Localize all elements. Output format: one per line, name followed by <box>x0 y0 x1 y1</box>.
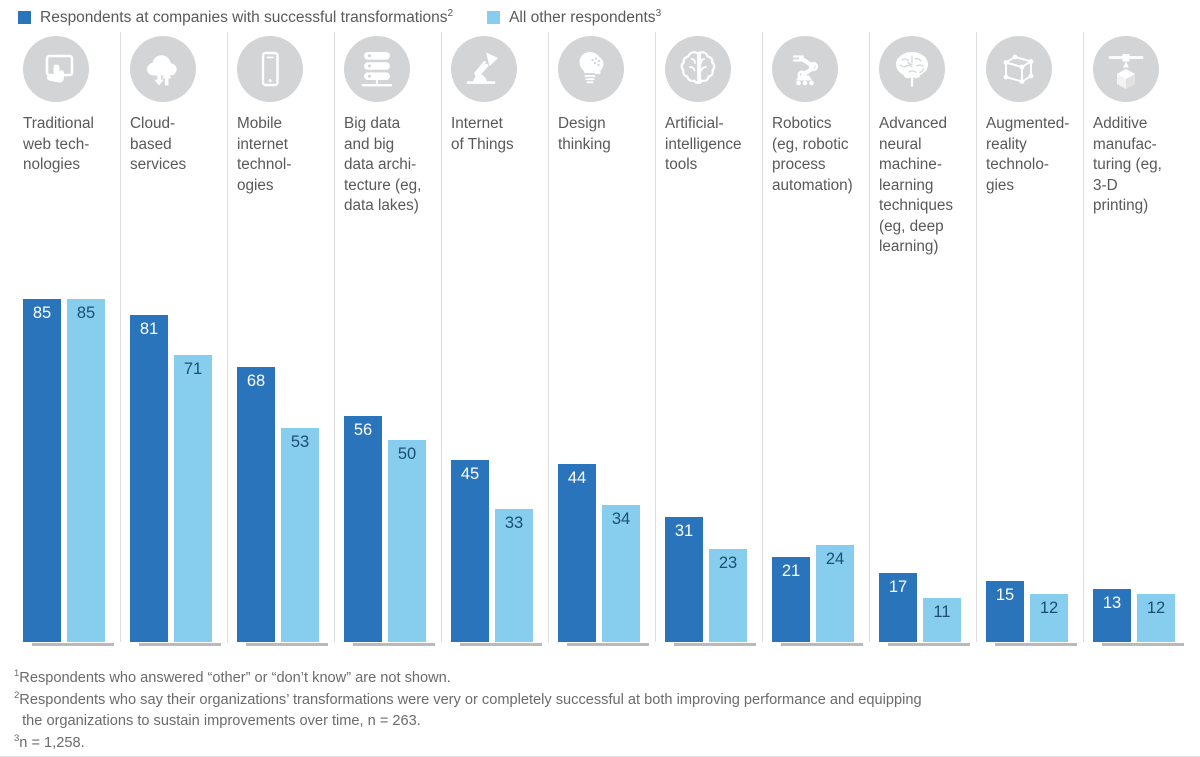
bar-group: 5650 <box>344 217 434 643</box>
bars-region: 8171 <box>130 176 220 643</box>
bar-group: 8171 <box>130 176 220 643</box>
bar-rect[interactable]: 12 <box>1030 594 1068 642</box>
category-label: Robotics (eg, robotic process automation… <box>772 114 862 196</box>
bar-successful[interactable]: 13 <box>1093 589 1131 642</box>
bar-group: 6853 <box>237 196 327 642</box>
bar-value-label: 85 <box>67 304 105 322</box>
bar-value-label: 85 <box>23 304 61 322</box>
bar-group: 1312 <box>1093 217 1183 643</box>
bar-successful[interactable]: 31 <box>665 517 703 642</box>
bar-rect[interactable]: 53 <box>281 428 319 642</box>
bar-other[interactable]: 11 <box>923 598 961 642</box>
category-label: Internet of Things <box>451 114 541 155</box>
robot-arm-icon <box>772 36 838 102</box>
bar-group: 1711 <box>879 258 969 643</box>
footnote-3: the organizations to sustain improvement… <box>14 711 922 733</box>
panel-baseline <box>460 643 542 646</box>
chart-category-panel: Additive manufac- turing (eg, 3-D printi… <box>1083 32 1190 642</box>
chart-legend: Respondents at companies with successful… <box>0 0 1200 26</box>
bar-other[interactable]: 34 <box>602 505 640 642</box>
lightbulb-head-icon <box>558 36 624 102</box>
bar-rect[interactable]: 71 <box>174 355 212 642</box>
legend-sup-0: 2 <box>448 8 454 19</box>
legend-item-1: All other respondents3 <box>487 8 661 27</box>
bar-group: 8585 <box>23 176 113 643</box>
chart-category-panel: Cloud- based services8171 <box>120 32 227 642</box>
bar-other[interactable]: 53 <box>281 428 319 642</box>
panel-inner: Traditional web tech- nologies8585 <box>14 32 120 642</box>
panel-baseline <box>246 643 328 646</box>
bars-region: 3123 <box>665 176 755 643</box>
category-label: Cloud- based services <box>130 114 220 176</box>
bar-rect[interactable]: 23 <box>709 549 747 642</box>
bar-successful[interactable]: 85 <box>23 299 61 642</box>
neural-brain-icon <box>879 36 945 102</box>
panel-baseline <box>995 643 1077 646</box>
bar-rect[interactable]: 15 <box>986 581 1024 642</box>
bar-rect[interactable]: 33 <box>495 509 533 642</box>
bar-value-label: 50 <box>388 445 426 463</box>
bar-other[interactable]: 71 <box>174 355 212 642</box>
footnote-text: Respondents who say their organizations’… <box>19 692 921 708</box>
legend-swatch-light-icon <box>487 11 500 24</box>
bar-value-label: 68 <box>237 372 275 390</box>
bar-value-label: 13 <box>1093 594 1131 612</box>
chart-footnotes: 1Respondents who answered “other” or “do… <box>14 668 922 754</box>
legend-sup-1: 3 <box>656 8 662 19</box>
bar-value-label: 44 <box>558 469 596 487</box>
panel-inner: Mobile internet technol- ogies6853 <box>228 32 334 642</box>
category-label: Advanced neural machine- learning techni… <box>879 114 969 258</box>
category-label: Mobile internet technol- ogies <box>237 114 327 196</box>
bar-other[interactable]: 24 <box>816 545 854 642</box>
web-browser-touch-icon <box>23 36 89 102</box>
bar-rect[interactable]: 21 <box>772 557 810 642</box>
bar-rect[interactable]: 81 <box>130 315 168 642</box>
category-label: Big data and big data archi- tecture (eg… <box>344 114 434 217</box>
wireframe-cube-icon <box>986 36 1052 102</box>
bar-value-label: 24 <box>816 550 854 568</box>
bar-successful[interactable]: 15 <box>986 581 1024 642</box>
bars-region: 8585 <box>23 176 113 643</box>
panel-inner: Design thinking4434 <box>549 32 655 642</box>
bar-group: 1512 <box>986 196 1076 642</box>
bar-value-label: 45 <box>451 465 489 483</box>
bar-value-label: 71 <box>174 360 212 378</box>
bar-rect[interactable]: 50 <box>388 440 426 642</box>
bar-other[interactable]: 85 <box>67 299 105 642</box>
category-label: Additive manufac- turing (eg, 3-D printi… <box>1093 114 1183 217</box>
bar-value-label: 31 <box>665 522 703 540</box>
bar-value-label: 12 <box>1030 599 1068 617</box>
bars-region: 4533 <box>451 155 541 642</box>
footnote-text: Respondents who answered “other” or “don… <box>19 670 451 686</box>
panel-inner: Cloud- based services8171 <box>121 32 227 642</box>
panel-baseline <box>567 643 649 646</box>
bar-rect[interactable]: 85 <box>67 299 105 642</box>
chart-category-panel: Traditional web tech- nologies8585 <box>14 32 120 642</box>
bar-value-label: 11 <box>923 603 961 621</box>
panel-baseline <box>1102 643 1184 646</box>
bar-other[interactable]: 50 <box>388 440 426 642</box>
bar-value-label: 15 <box>986 586 1024 604</box>
panel-inner: Internet of Things4533 <box>442 32 548 642</box>
bar-group: 2124 <box>772 196 862 642</box>
bars-region: 5650 <box>344 217 434 643</box>
bar-successful[interactable]: 45 <box>451 460 489 642</box>
mobile-phone-icon <box>237 36 303 102</box>
footnote-2: 2Respondents who say their organizations… <box>14 690 922 712</box>
bar-rect[interactable]: 13 <box>1093 589 1131 642</box>
bar-rect[interactable]: 85 <box>23 299 61 642</box>
panel-baseline <box>139 643 221 646</box>
bar-group: 3123 <box>665 176 755 643</box>
bar-rect[interactable]: 34 <box>602 505 640 642</box>
bar-value-label: 34 <box>602 510 640 528</box>
bar-other[interactable]: 23 <box>709 549 747 642</box>
bar-value-label: 53 <box>281 433 319 451</box>
bar-successful[interactable]: 17 <box>879 573 917 642</box>
bar-value-label: 21 <box>772 562 810 580</box>
bar-successful[interactable]: 44 <box>558 464 596 642</box>
cloud-sync-icon <box>130 36 196 102</box>
legend-label-0: Respondents at companies with successful… <box>40 8 453 27</box>
category-label: Design thinking <box>558 114 648 155</box>
bar-value-label: 17 <box>879 578 917 596</box>
chart-category-panel: Internet of Things4533 <box>441 32 548 642</box>
footnote-1: 1Respondents who answered “other” or “do… <box>14 668 922 690</box>
brain-circuit-icon <box>665 36 731 102</box>
grouped-bar-chart: Traditional web tech- nologies8585Cloud-… <box>14 32 1190 642</box>
bar-rect[interactable]: 45 <box>451 460 489 642</box>
panel-inner: Advanced neural machine- learning techni… <box>870 32 976 642</box>
panel-inner: Robotics (eg, robotic process automation… <box>763 32 869 642</box>
bars-region: 2124 <box>772 196 862 642</box>
legend-label-1: All other respondents3 <box>509 8 661 27</box>
bar-rect[interactable]: 24 <box>816 545 854 642</box>
panel-baseline <box>353 643 435 646</box>
footnote-text: the organizations to sustain improvement… <box>14 713 421 729</box>
bars-region: 1711 <box>879 258 969 643</box>
bar-value-label: 23 <box>709 554 747 572</box>
3d-printer-icon <box>1093 36 1159 102</box>
bar-value-label: 33 <box>495 514 533 532</box>
panel-baseline <box>32 643 114 646</box>
bars-region: 4434 <box>558 155 648 642</box>
bar-successful[interactable]: 56 <box>344 416 382 642</box>
chart-category-panel: Robotics (eg, robotic process automation… <box>762 32 869 642</box>
panel-baseline <box>888 643 970 646</box>
server-stack-icon <box>344 36 410 102</box>
bar-rect[interactable]: 44 <box>558 464 596 642</box>
panel-inner: Additive manufac- turing (eg, 3-D printi… <box>1084 32 1190 642</box>
bar-value-label: 81 <box>130 320 168 338</box>
chart-category-panel: Artificial- intelligence tools3123 <box>655 32 762 642</box>
bar-rect[interactable]: 56 <box>344 416 382 642</box>
bar-rect[interactable]: 11 <box>923 598 961 642</box>
bar-other[interactable]: 12 <box>1137 594 1175 642</box>
chart-category-panel: Big data and big data archi- tecture (eg… <box>334 32 441 642</box>
chart-category-panel: Augmented- reality technolo- gies1512 <box>976 32 1083 642</box>
bar-successful[interactable]: 68 <box>237 367 275 642</box>
bar-value-label: 56 <box>344 421 382 439</box>
panel-inner: Artificial- intelligence tools3123 <box>656 32 762 642</box>
bar-other[interactable]: 12 <box>1030 594 1068 642</box>
chart-category-panel: Advanced neural machine- learning techni… <box>869 32 976 642</box>
panel-inner: Big data and big data archi- tecture (eg… <box>335 32 441 642</box>
chart-category-panel: Mobile internet technol- ogies6853 <box>227 32 334 642</box>
bar-value-label: 12 <box>1137 599 1175 617</box>
bars-region: 1512 <box>986 196 1076 642</box>
panel-inner: Augmented- reality technolo- gies1512 <box>977 32 1083 642</box>
legend-item-0: Respondents at companies with successful… <box>18 8 453 27</box>
bar-rect[interactable]: 12 <box>1137 594 1175 642</box>
legend-swatch-dark-icon <box>18 11 31 24</box>
panel-baseline <box>674 643 756 646</box>
category-label: Artificial- intelligence tools <box>665 114 755 176</box>
footnote-4: 3n = 1,258. <box>14 733 922 755</box>
bars-region: 1312 <box>1093 217 1183 643</box>
bars-region: 6853 <box>237 196 327 642</box>
footnote-text: n = 1,258. <box>19 735 84 751</box>
category-label: Traditional web tech- nologies <box>23 114 113 176</box>
bar-successful[interactable]: 21 <box>772 557 810 642</box>
chart-category-panel: Design thinking4434 <box>548 32 655 642</box>
bar-rect[interactable]: 17 <box>879 573 917 642</box>
bar-rect[interactable]: 68 <box>237 367 275 642</box>
connected-lamp-icon <box>451 36 517 102</box>
bar-group: 4533 <box>451 155 541 642</box>
bar-rect[interactable]: 31 <box>665 517 703 642</box>
bar-group: 4434 <box>558 155 648 642</box>
category-label: Augmented- reality technolo- gies <box>986 114 1076 196</box>
bar-successful[interactable]: 81 <box>130 315 168 642</box>
bar-other[interactable]: 33 <box>495 509 533 642</box>
panel-baseline <box>781 643 863 646</box>
